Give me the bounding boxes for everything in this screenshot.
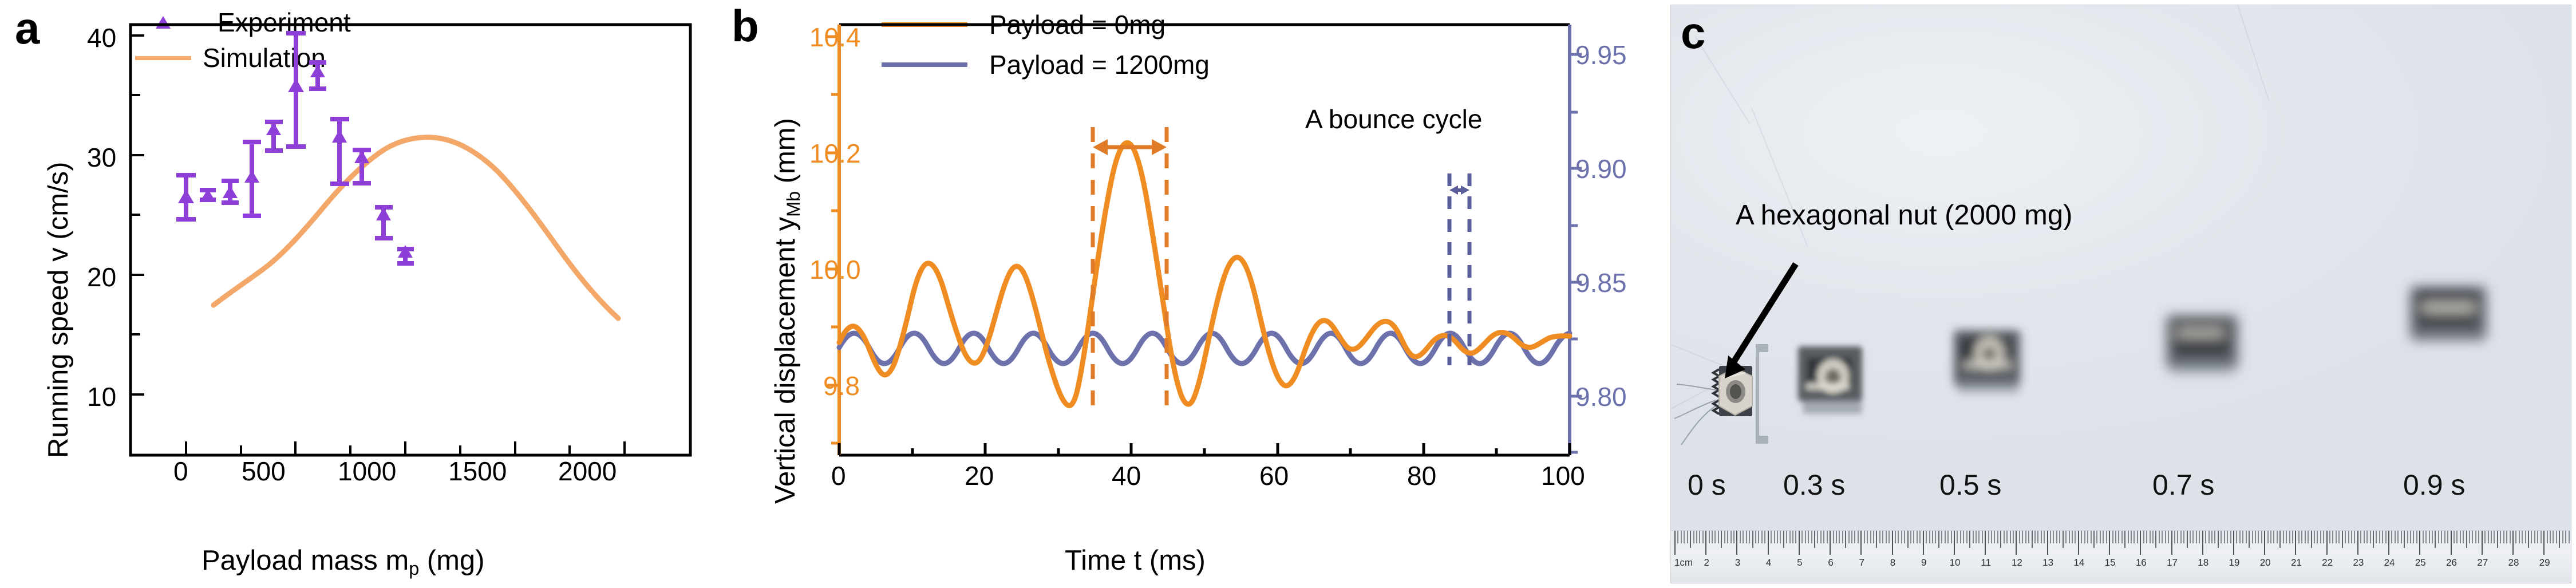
ruler-label: 15 <box>2105 557 2116 569</box>
ruler-tick <box>2451 531 2452 555</box>
ruler-tick <box>2522 531 2523 543</box>
ruler-tick <box>1709 531 1710 543</box>
ruler-tick <box>1823 531 1824 543</box>
ruler-tick <box>1867 531 1868 543</box>
ruler-tick <box>1811 531 1812 543</box>
ruler-tick <box>1743 531 1744 543</box>
nut-callout-arrow-icon <box>1725 264 1796 378</box>
ruler-tick <box>1870 531 1871 543</box>
ruler-tick <box>2050 531 2051 543</box>
ruler-tick <box>1727 531 1728 543</box>
arrow-head-left-icon <box>1093 139 1108 155</box>
ruler-tick <box>2270 531 2271 543</box>
ruler-tick <box>2150 531 2151 543</box>
ruler-tick <box>1814 531 1815 548</box>
ruler-tick <box>2000 531 2001 548</box>
ruler-tick <box>1758 531 1759 543</box>
ruler-tick <box>1690 531 1691 548</box>
ruler-tick <box>2515 531 2516 543</box>
ruler-tick <box>2317 531 2318 543</box>
ruler-tick <box>2128 531 2129 543</box>
ruler-tick <box>2078 531 2079 555</box>
ruler-tick <box>2214 531 2215 543</box>
ruler-tick <box>2441 531 2442 543</box>
ruler-tick <box>1860 531 1862 555</box>
ruler-tick <box>2323 531 2324 543</box>
ruler-tick <box>1926 531 1927 543</box>
ruler-tick <box>2025 531 2026 543</box>
panel-c: 1cm2345678910111213141516171819202122232… <box>1666 0 2576 588</box>
ruler-tick <box>2338 531 2340 543</box>
ruler-tick <box>2277 531 2278 543</box>
ruler-tick <box>2416 531 2417 543</box>
ruler-tick <box>2482 531 2483 555</box>
ruler-tick <box>2056 531 2057 543</box>
ruler-tick <box>2146 531 2147 543</box>
ruler-tick <box>1973 531 1974 543</box>
ruler-tick <box>2395 531 2396 543</box>
ruler-tick <box>1957 531 1958 543</box>
ruler-tick <box>1681 531 1682 543</box>
ruler-tick <box>2199 531 2200 543</box>
ruler-tick <box>2028 531 2029 543</box>
ruler-tick <box>1792 531 1793 543</box>
ruler-tick <box>2072 531 2073 543</box>
ruler-tick <box>2174 531 2175 543</box>
ruler-tick <box>2211 531 2212 543</box>
arrow-head-left-blue-icon <box>1449 186 1458 195</box>
ruler-label: 6 <box>1828 557 1833 569</box>
ruler-tick <box>2162 531 2163 543</box>
panel-b-plot <box>727 0 1666 588</box>
ruler-tick <box>1873 531 1874 543</box>
ruler-tick <box>2112 531 2113 543</box>
ruler-tick <box>2208 531 2210 543</box>
panel-a-errorbars <box>176 33 414 263</box>
ruler-label: 7 <box>1859 557 1864 569</box>
ruler-tick <box>2236 531 2237 543</box>
ruler-tick <box>2034 531 2036 543</box>
ruler-tick <box>2279 531 2281 548</box>
ruler-tick <box>2478 531 2479 543</box>
ruler-tick <box>2004 531 2005 543</box>
ruler-label: 17 <box>2167 557 2178 569</box>
ruler-tick <box>2370 531 2371 543</box>
ruler-tick <box>1969 531 1970 548</box>
ruler-tick <box>2301 531 2302 543</box>
ruler-tick <box>2320 531 2321 543</box>
ruler-tick <box>2506 531 2507 543</box>
ruler-tick <box>2032 531 2033 548</box>
ruler-tick <box>2100 531 2101 543</box>
ruler-tick <box>2503 531 2504 543</box>
ruler-tick <box>1712 531 1713 543</box>
ruler-tick <box>1827 531 1828 543</box>
ruler-tick <box>1764 531 1765 543</box>
ruler-tick <box>2093 531 2095 548</box>
ruler-label: 12 <box>2012 557 2022 569</box>
ruler-tick <box>1684 531 1685 543</box>
ruler-tick <box>1910 531 1911 543</box>
ruler-tick <box>1960 531 1961 543</box>
ruler-tick <box>2541 531 2542 543</box>
ruler-tick <box>1879 531 1880 543</box>
ruler-tick <box>1705 531 1706 555</box>
ruler-tick <box>1895 531 1896 543</box>
ruler-tick <box>2192 531 2194 543</box>
ruler-tick <box>1976 531 1977 543</box>
ruler-tick <box>2345 531 2346 543</box>
ruler-tick <box>2519 531 2520 543</box>
ruler-tick <box>2065 531 2067 543</box>
ruler-tick <box>1693 531 1694 543</box>
ruler-tick <box>2168 531 2169 543</box>
ruler-tick <box>2484 531 2486 543</box>
ruler-tick <box>2419 531 2420 555</box>
ruler-tick <box>2351 531 2352 543</box>
ruler-tick <box>1991 531 1992 543</box>
ruler-tick <box>2410 531 2411 543</box>
ruler-tick <box>1842 531 1843 543</box>
ruler-tick <box>1699 531 1700 543</box>
ruler-label: 11 <box>1981 557 1991 569</box>
ruler-tick <box>2444 531 2445 543</box>
ruler-tick <box>1768 531 1769 555</box>
ruler-tick <box>2087 531 2088 543</box>
ruler-tick <box>1923 531 1924 555</box>
ruler-tick <box>2550 531 2551 543</box>
ruler-tick <box>1919 531 1921 543</box>
ruler-tick <box>2233 531 2234 555</box>
ruler-label: 23 <box>2353 557 2364 569</box>
ruler-tick <box>2407 531 2408 543</box>
ruler-label: 8 <box>1890 557 1895 569</box>
ruler-tick <box>2246 531 2247 543</box>
ruler-tick <box>1935 531 1936 543</box>
ruler-label: 26 <box>2446 557 2457 569</box>
ruler-tick <box>2202 531 2203 555</box>
ruler-tick <box>2438 531 2439 543</box>
ruler-tick <box>2063 531 2064 548</box>
ruler-tick <box>1876 531 1877 548</box>
ruler-tick <box>2311 531 2312 548</box>
ruler-tick <box>1929 531 1930 543</box>
ruler-tick <box>2357 531 2358 555</box>
ruler-tick <box>1839 531 1840 543</box>
ruler-tick <box>2183 531 2184 543</box>
ruler-tick <box>2364 531 2365 543</box>
ruler-tick <box>2376 531 2377 543</box>
ruler-tick <box>1696 531 1697 543</box>
ruler-tick <box>1755 531 1756 543</box>
ruler-tick <box>1913 531 1914 543</box>
ruler-tick <box>2569 531 2570 543</box>
ruler-tick <box>2084 531 2085 543</box>
ruler-tick <box>1901 531 1902 543</box>
ruler-tick <box>1730 531 1732 543</box>
ruler-tick <box>1888 531 1890 543</box>
ruler-tick <box>2016 531 2017 555</box>
ruler-tick <box>2425 531 2427 543</box>
ruler-tick <box>2472 531 2473 543</box>
ruler-tick <box>2531 531 2532 543</box>
ruler-label: 16 <box>2136 557 2147 569</box>
ruler-tick <box>1736 531 1737 555</box>
ruler-tick <box>1780 531 1781 543</box>
ruler-tick <box>2460 531 2461 543</box>
ruler-tick <box>2491 531 2492 543</box>
ruler-tick <box>1938 531 1939 548</box>
ruler-tick <box>1945 531 1946 543</box>
ruler-tick <box>1820 531 1822 543</box>
panel-a-axes-frame <box>131 25 690 455</box>
ruler-label: 24 <box>2384 557 2395 569</box>
ruler-tick <box>2044 531 2045 543</box>
ruler-tick <box>2475 531 2476 543</box>
ruler-tick <box>1833 531 1834 543</box>
ruler-tick <box>2382 531 2383 543</box>
ruler-tick <box>2413 531 2414 543</box>
ruler-label: 1cm <box>1674 557 1693 569</box>
ruler-tick <box>2525 531 2526 543</box>
ruler-tick <box>1724 531 1725 543</box>
panel-c-letter: c <box>1681 10 1705 55</box>
ruler-tick <box>2543 531 2545 555</box>
ruler-tick <box>2137 531 2138 543</box>
ruler-tick <box>1799 531 1800 555</box>
ruler-tick <box>2010 531 2011 543</box>
ruler-tick <box>2267 531 2269 543</box>
ruler-tick <box>2336 531 2337 543</box>
ruler-tick <box>1851 531 1852 543</box>
ruler-tick <box>2553 531 2554 543</box>
ruler-tick <box>2528 531 2529 548</box>
ruler-tick <box>2155 531 2156 548</box>
ruler-tick <box>1978 531 1980 543</box>
ruler-tick <box>2190 531 2191 543</box>
ruler-tick <box>2041 531 2042 543</box>
ruler-tick <box>1904 531 1905 543</box>
ruler-tick <box>2075 531 2076 543</box>
ruler-tick <box>2037 531 2038 543</box>
ruler-tick <box>1830 531 1831 555</box>
ruler-tick <box>1994 531 1995 543</box>
ruler-tick <box>1777 531 1778 543</box>
ruler-tick <box>2013 531 2014 543</box>
ruler-tick <box>2373 531 2374 548</box>
ruler-tick <box>2242 531 2243 543</box>
time-label-0p3s: 0.3 s <box>1783 471 1845 499</box>
ruler-ticks <box>1671 531 2571 557</box>
ruler-tick <box>2121 531 2123 543</box>
ruler-label: 25 <box>2415 557 2426 569</box>
ruler-tick <box>2298 531 2300 543</box>
ruler-tick <box>2286 531 2287 543</box>
ruler-label: 27 <box>2477 557 2488 569</box>
ruler-tick <box>2177 531 2178 543</box>
ruler-tick <box>1985 531 1986 555</box>
robot-at-0p5s <box>1954 330 2020 393</box>
ruler-label: 21 <box>2291 557 2302 569</box>
ruler-label: 20 <box>2260 557 2271 569</box>
ruler-tick <box>2401 531 2402 543</box>
ruler-tick <box>1963 531 1964 543</box>
ruler-tick <box>2289 531 2290 543</box>
ruler-tick <box>2249 531 2250 548</box>
ruler-tick <box>2432 531 2433 543</box>
ruler-tick <box>1845 531 1846 548</box>
ruler-tick <box>2292 531 2293 543</box>
ruler-tick <box>2388 531 2389 555</box>
ruler-tick <box>2221 531 2222 543</box>
ruler-tick <box>2159 531 2160 543</box>
ruler-tick <box>1954 531 1955 555</box>
arrow-head-right-icon <box>1152 139 1167 155</box>
ruler-tick <box>2283 531 2284 543</box>
ruler-tick <box>2205 531 2206 543</box>
ruler-tick <box>2196 531 2197 543</box>
ruler-tick <box>1947 531 1949 543</box>
ruler-tick <box>1917 531 1918 543</box>
ruler-tick <box>2308 531 2309 543</box>
ruler-tick <box>2348 531 2349 543</box>
ruler-tick <box>2140 531 2141 555</box>
ruler-tick <box>1746 531 1747 543</box>
ruler-label: 28 <box>2508 557 2519 569</box>
arrow-head-right-blue-icon <box>1461 186 1469 195</box>
ruler-tick <box>1864 531 1865 543</box>
ruler-tick <box>2469 531 2470 543</box>
time-label-0p7s: 0.7 s <box>2152 471 2214 499</box>
ruler-tick <box>1761 531 1763 543</box>
ruler-tick <box>2109 531 2110 555</box>
ruler-tick <box>2435 531 2436 548</box>
ruler-tick <box>1718 531 1719 543</box>
ruler-tick <box>2360 531 2361 543</box>
ruler-tick <box>2171 531 2172 555</box>
ruler-tick <box>2466 531 2467 548</box>
ruler-label: 18 <box>2198 557 2208 569</box>
ruler-tick <box>2453 531 2455 543</box>
ruler-tick <box>1702 531 1704 543</box>
ruler-tick <box>2329 531 2330 543</box>
panel-a-y-ticks <box>131 35 144 394</box>
ruler-tick <box>2124 531 2125 548</box>
ruler-tick <box>2354 531 2355 543</box>
ruler-tick <box>1898 531 1899 543</box>
ruler-tick <box>1783 531 1784 548</box>
ruler-tick <box>1988 531 1989 543</box>
ruler-tick <box>1858 531 1859 543</box>
ruler-tick <box>2227 531 2228 543</box>
ruler-tick <box>2059 531 2060 543</box>
ruler-tick <box>1795 531 1796 543</box>
robot-at-0p3s <box>1798 346 1862 414</box>
ruler-label: 2 <box>1704 557 1709 569</box>
ruler-tick <box>1789 531 1791 543</box>
ruler-tick <box>2115 531 2116 543</box>
time-label-0p9s: 0.9 s <box>2403 471 2465 499</box>
panel-a: a Running speed v (cm/s) Payload mass mp… <box>0 0 727 588</box>
ruler-tick <box>2379 531 2380 543</box>
panel-b-curve-payload0 <box>839 143 1570 405</box>
ruler-tick <box>1808 531 1809 543</box>
ruler-tick <box>2152 531 2154 543</box>
ruler-tick <box>2556 531 2557 543</box>
ruler-tick <box>1786 531 1787 543</box>
ruler-tick <box>1733 531 1735 543</box>
ruler-label: 19 <box>2229 557 2240 569</box>
ruler-label: 5 <box>1797 557 1802 569</box>
ruler-tick <box>2447 531 2448 543</box>
ruler-tick <box>2342 531 2343 548</box>
figure-root: a Running speed v (cm/s) Payload mass mp… <box>0 0 2576 588</box>
ruler-tick <box>2537 531 2538 543</box>
ruler-tick <box>2562 531 2563 543</box>
ruler-tick <box>2385 531 2387 543</box>
ruler-tick <box>2534 531 2535 543</box>
panel-c-ruler: 1cm2345678910111213141516171819202122232… <box>1671 530 2571 583</box>
ruler-tick <box>1774 531 1775 543</box>
ruler-tick <box>2134 531 2135 543</box>
robot-at-0s <box>1674 344 1768 445</box>
ruler-tick <box>2497 531 2498 548</box>
ruler-label: 14 <box>2073 557 2084 569</box>
ruler-tick <box>2273 531 2274 543</box>
ruler-tick <box>1951 531 1952 543</box>
panel-b-x-ticks <box>839 443 1570 455</box>
ruler-tick <box>1749 531 1750 543</box>
ruler-label: 4 <box>1766 557 1771 569</box>
ruler-tick <box>1740 531 1741 543</box>
ruler-tick <box>1714 531 1716 543</box>
ruler-tick <box>2019 531 2020 543</box>
ruler-tick <box>2252 531 2253 543</box>
ruler-tick <box>1932 531 1933 543</box>
ruler-tick <box>1854 531 1855 543</box>
ruler-tick <box>2081 531 2082 543</box>
ruler-label: 29 <box>2539 557 2550 569</box>
robot-at-0p9s <box>2411 287 2486 342</box>
panel-a-plot <box>0 0 727 588</box>
ruler-tick <box>2423 531 2424 543</box>
ruler-tick <box>1721 531 1722 548</box>
ruler-tick <box>1941 531 1942 543</box>
time-label-0s: 0 s <box>1688 471 1726 499</box>
ruler-tick <box>2131 531 2132 543</box>
ruler-tick <box>2429 531 2430 543</box>
ruler-tick <box>2565 531 2566 543</box>
time-label-0p5s: 0.5 s <box>1939 471 2001 499</box>
ruler-tick <box>2165 531 2166 543</box>
ruler-tick <box>2547 531 2548 543</box>
ruler-label: 10 <box>1950 557 1961 569</box>
ruler-tick <box>1966 531 1967 543</box>
panel-b: b Vertical displacement yMb (mm) Time t … <box>727 0 1666 588</box>
panel-a-x-ticks <box>186 441 625 455</box>
ruler-tick <box>2106 531 2107 543</box>
ruler-tick <box>2264 531 2265 555</box>
ruler-tick <box>2230 531 2231 543</box>
ruler-tick <box>2143 531 2144 543</box>
panel-a-simulation-curve <box>214 137 618 318</box>
panel-c-nut-callout-label: A hexagonal nut (2000 mg) <box>1736 202 2072 230</box>
ruler-tick <box>1907 531 1909 548</box>
ruler-tick <box>2239 531 2241 543</box>
ruler-tick <box>2096 531 2097 543</box>
ruler-tick <box>2510 531 2511 543</box>
ruler-tick <box>2391 531 2392 543</box>
